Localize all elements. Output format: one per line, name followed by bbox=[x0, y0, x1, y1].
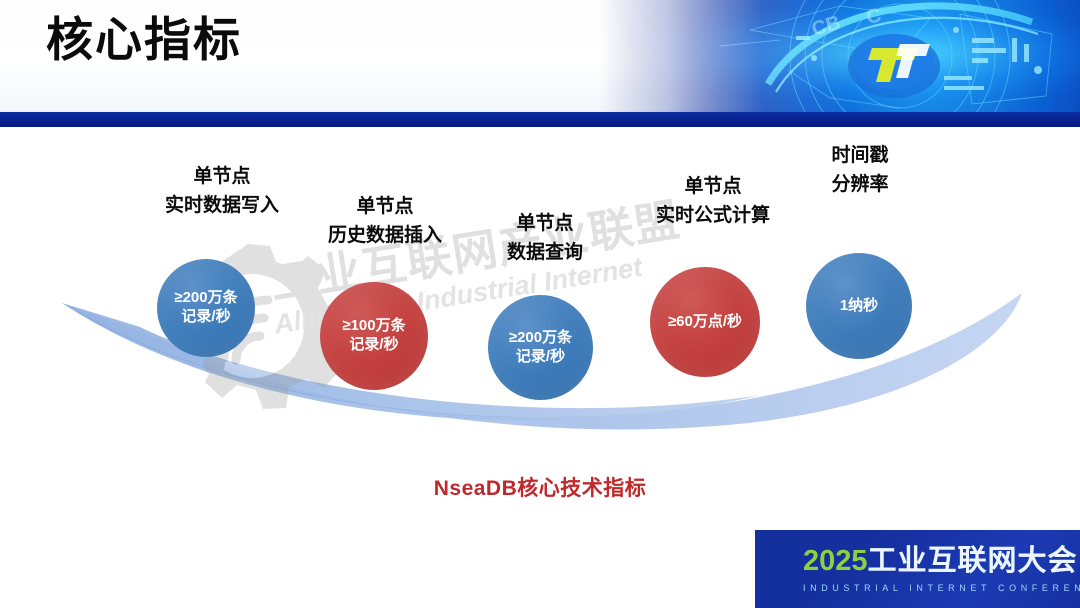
node-label-3-line2: 数据查询 bbox=[465, 238, 625, 267]
metric-value-4-line1: ≥60万点/秒 bbox=[668, 313, 742, 332]
metric-value-3-line2: 记录/秒 bbox=[516, 348, 565, 367]
conference-name-en: INDUSTRIAL INTERNET CONFERENCE bbox=[803, 583, 1080, 593]
node-label-4-line2: 实时公式计算 bbox=[625, 201, 801, 230]
node-label-1-line1: 单节点 bbox=[140, 162, 304, 191]
metric-value-3-line1: ≥200万条 bbox=[509, 329, 572, 348]
metric-value-1-line2: 记录/秒 bbox=[181, 308, 230, 327]
conference-year: 2025 bbox=[803, 545, 868, 577]
node-label-1: 单节点 实时数据写入 bbox=[140, 162, 304, 221]
node-label-5-line2: 分辨率 bbox=[795, 170, 925, 199]
node-label-1-line2: 实时数据写入 bbox=[140, 191, 304, 220]
metric-value-5-line1: 1纳秒 bbox=[840, 297, 878, 316]
node-label-2: 单节点 历史数据插入 bbox=[300, 192, 470, 251]
node-label-3: 单节点 数据查询 bbox=[465, 209, 625, 268]
node-label-2-line2: 历史数据插入 bbox=[300, 221, 470, 250]
slide-root: CB C 核心指标 bbox=[0, 0, 1080, 608]
header-tech-graphic: CB C bbox=[600, 0, 1080, 112]
metric-bubble-5[interactable]: 1纳秒 bbox=[806, 253, 912, 359]
circuit-artwork-icon: CB C bbox=[600, 0, 1080, 112]
diagram-caption: NseaDB核心技术指标 bbox=[0, 472, 1080, 502]
node-label-5-line1: 时间戳 bbox=[795, 141, 925, 170]
node-label-2-line1: 单节点 bbox=[300, 192, 470, 221]
metric-value-1-line1: ≥200万条 bbox=[174, 289, 237, 308]
node-label-3-line1: 单节点 bbox=[465, 209, 625, 238]
node-label-4: 单节点 实时公式计算 bbox=[625, 172, 801, 231]
node-label-5: 时间戳 分辨率 bbox=[795, 141, 925, 200]
metric-bubble-4[interactable]: ≥60万点/秒 bbox=[650, 267, 760, 377]
metric-bubble-1[interactable]: ≥200万条 记录/秒 bbox=[157, 259, 255, 357]
metric-bubble-3[interactable]: ≥200万条 记录/秒 bbox=[488, 295, 593, 400]
page-title: 核心指标 bbox=[46, 16, 242, 63]
metric-value-2-line1: ≥100万条 bbox=[342, 317, 405, 336]
conference-banner: 2025工业互联网大会 INDUSTRIAL INTERNET CONFEREN… bbox=[755, 530, 1080, 608]
node-label-4-line1: 单节点 bbox=[625, 172, 801, 201]
metric-value-2-line2: 记录/秒 bbox=[349, 336, 398, 355]
conference-title: 2025工业互联网大会 bbox=[803, 547, 1080, 576]
metric-bubble-2[interactable]: ≥100万条 记录/秒 bbox=[320, 282, 428, 390]
conference-name-cn: 工业互联网大会 bbox=[868, 545, 1078, 577]
header-accent-bar bbox=[0, 112, 1080, 127]
slide-header: CB C 核心指标 bbox=[0, 0, 1080, 112]
